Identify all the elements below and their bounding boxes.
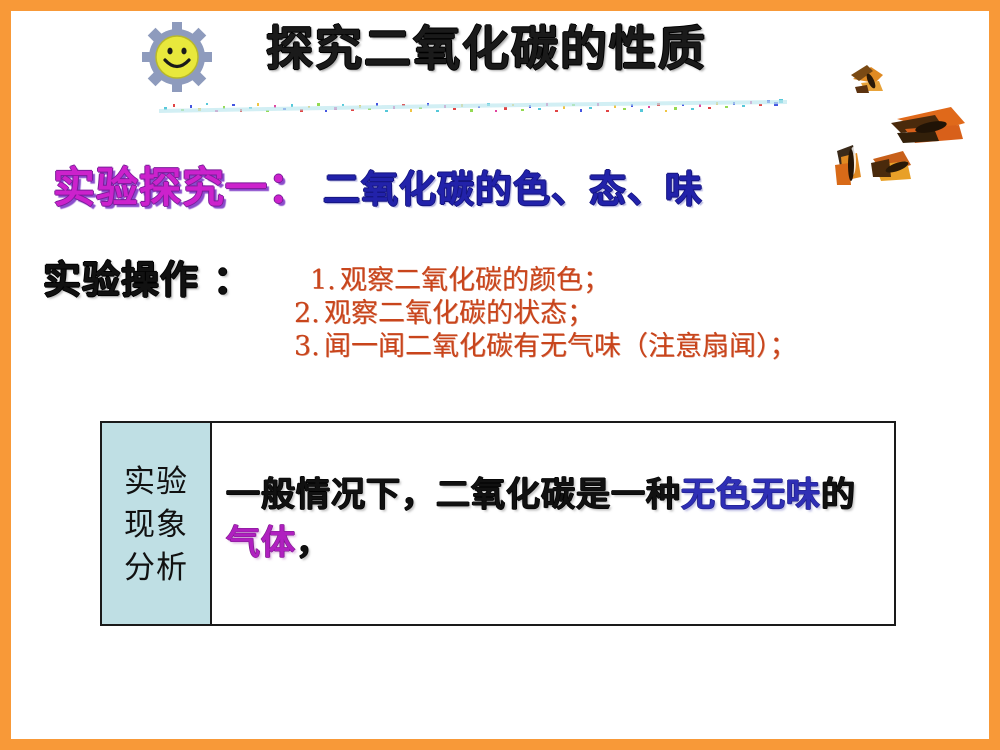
section-value: 二氧化碳的色、态、味: [323, 168, 703, 211]
smiley-gear-icon: [142, 22, 212, 92]
segment-blue: 无色无味: [681, 475, 821, 515]
butterfly-1: [851, 65, 883, 93]
segment-black-3: ，: [296, 523, 331, 563]
list-item-number: 1.: [310, 264, 340, 297]
list-item-number: 3.: [294, 330, 324, 363]
operation-label: 实验操作 ：: [43, 256, 252, 304]
table-header-cell: 实验 现象 分析: [102, 423, 212, 624]
slide-content-area: 探究二氧化碳的性质: [11, 11, 989, 739]
table-header-text: 实验 现象 分析: [124, 461, 188, 590]
table-header-line-3: 分析: [124, 547, 188, 590]
list-item: 2.观察二氧化碳的状态；: [294, 297, 974, 330]
operation-list: 1.观察二氧化碳的颜色； 2.观察二氧化碳的状态； 3.闻一闻二氧化碳有无气味（…: [294, 264, 974, 363]
butterfly-3: [835, 145, 861, 185]
list-item-text: 观察二氧化碳的状态；: [324, 298, 594, 329]
segment-black-1: 一般情况下，二氧化碳是一种: [226, 475, 681, 515]
list-item: 1.观察二氧化碳的颜色；: [294, 264, 974, 297]
butterfly-2: [891, 107, 965, 143]
butterflies-decoration: [831, 31, 991, 231]
slide-canvas: 探究二氧化碳的性质: [0, 0, 1000, 750]
list-item-text: 观察二氧化碳的颜色；: [340, 265, 610, 296]
list-item: 3.闻一闻二氧化碳有无气味（注意扇闻）；: [294, 330, 974, 363]
analysis-table: 实验 现象 分析 一般情况下，二氧化碳是一种无色无味的气体，: [100, 421, 896, 626]
segment-magenta: 气体: [226, 523, 296, 563]
butterfly-4: [871, 151, 911, 181]
page-title: 探究二氧化碳的性质: [266, 20, 707, 80]
segment-black-2: 的: [821, 475, 856, 515]
table-header-line-2: 现象: [124, 504, 188, 547]
table-header-line-1: 实验: [124, 461, 188, 504]
list-item-text: 闻一闻二氧化碳有无气味（注意扇闻）；: [324, 331, 797, 362]
confetti-divider: [159, 91, 787, 123]
table-body-cell: 一般情况下，二氧化碳是一种无色无味的气体，: [212, 423, 894, 624]
analysis-conclusion-text: 一般情况下，二氧化碳是一种无色无味的气体，: [226, 471, 884, 567]
section-heading: 实验探究一：二氧化碳的色、态、味: [53, 162, 703, 216]
section-label: 实验探究一：: [53, 163, 311, 212]
list-item-number: 2.: [294, 297, 324, 330]
